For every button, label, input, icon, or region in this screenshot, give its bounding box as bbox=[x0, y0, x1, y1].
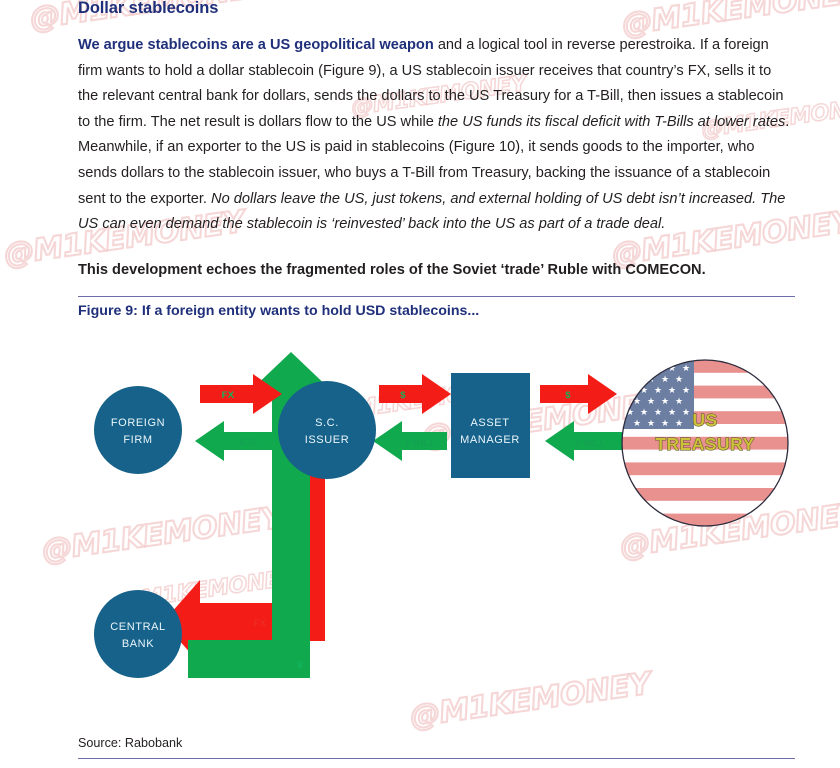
arrow-label-tbill-left: T-BILL bbox=[404, 438, 435, 449]
figure-9-diagram: FX $ FX S.C. $ T-BILL $ T-BILL FOREIGN bbox=[0, 330, 840, 730]
svg-text:★: ★ bbox=[647, 397, 655, 407]
paragraph-secondary: This development echoes the fragmented r… bbox=[78, 258, 795, 284]
node-sc-issuer-line1: S.C. bbox=[315, 417, 339, 429]
svg-text:★: ★ bbox=[668, 386, 676, 396]
svg-text:★: ★ bbox=[661, 419, 669, 429]
page-title: Dollar stablecoins bbox=[78, 0, 218, 18]
node-foreign-firm-line2: FIRM bbox=[123, 434, 152, 446]
node-asset-manager-line2: MANAGER bbox=[460, 434, 520, 446]
svg-text:★: ★ bbox=[661, 375, 669, 385]
svg-text:★: ★ bbox=[682, 386, 690, 396]
divider-bottom bbox=[78, 758, 795, 759]
svg-text:★: ★ bbox=[633, 375, 641, 385]
arrow-label-dollar-right: $ bbox=[565, 390, 571, 401]
svg-text:★: ★ bbox=[675, 397, 683, 407]
arrow-treasury-to-assetmgr: T-BILL bbox=[545, 421, 622, 461]
svg-text:★: ★ bbox=[675, 375, 683, 385]
node-us-treasury: ★★★★★ ★★★★ ★★★★★ ★★★★ ★★★★★ ★★★★ US TREA… bbox=[622, 360, 788, 526]
paragraph-lead-bold: We argue stablecoins are a US geopolitic… bbox=[78, 37, 434, 53]
svg-text:★: ★ bbox=[640, 364, 648, 374]
node-sc-issuer: S.C. ISSUER bbox=[278, 381, 376, 479]
svg-text:★: ★ bbox=[682, 408, 690, 418]
arrow-label-sc: S.C. bbox=[239, 437, 259, 448]
svg-text:★: ★ bbox=[633, 419, 641, 429]
node-sc-issuer-line2: ISSUER bbox=[305, 434, 350, 446]
arrow-label-fx-top: FX bbox=[222, 390, 235, 401]
node-asset-manager: ASSET MANAGER bbox=[451, 373, 530, 478]
svg-text:★: ★ bbox=[668, 408, 676, 418]
node-us-treasury-line1: US bbox=[692, 410, 717, 430]
node-central-bank-line1: CENTRAL bbox=[110, 621, 166, 633]
figure-caption: Figure 9: If a foreign entity wants to h… bbox=[78, 303, 479, 319]
svg-text:★: ★ bbox=[647, 419, 655, 429]
divider-top bbox=[78, 296, 795, 297]
svg-text:★: ★ bbox=[626, 364, 634, 374]
node-central-bank-line2: BANK bbox=[122, 638, 154, 650]
arrow-issuer-to-assetmgr: $ bbox=[379, 374, 451, 414]
arrow-label-fx-bottom: FX bbox=[254, 618, 267, 629]
arrow-label-dollar-bottom: $ bbox=[297, 660, 303, 671]
source-note: Source: Rabobank bbox=[78, 736, 182, 750]
node-foreign-firm-line1: FOREIGN bbox=[111, 417, 165, 429]
svg-text:★: ★ bbox=[626, 386, 634, 396]
svg-text:★: ★ bbox=[654, 386, 662, 396]
arrow-issuer-to-firm: S.C. bbox=[195, 421, 277, 461]
arrow-assetmgr-to-issuer: T-BILL bbox=[373, 421, 447, 461]
arrow-label-tbill-right: T-BILL bbox=[574, 438, 605, 449]
node-foreign-firm: FOREIGN FIRM bbox=[94, 386, 182, 474]
svg-text:★: ★ bbox=[675, 419, 683, 429]
svg-text:★: ★ bbox=[682, 364, 690, 374]
paragraph-italic-1: the US funds its fiscal deficit with T-B… bbox=[438, 114, 785, 130]
svg-text:★: ★ bbox=[661, 397, 669, 407]
svg-text:★: ★ bbox=[640, 408, 648, 418]
node-central-bank: CENTRAL BANK bbox=[94, 590, 182, 678]
paragraph-primary: We argue stablecoins are a US geopolitic… bbox=[78, 33, 795, 238]
arrow-assetmgr-to-treasury: $ bbox=[540, 374, 617, 414]
node-us-treasury-line2: TREASURY bbox=[655, 434, 755, 454]
arrow-label-dollar-left: $ bbox=[400, 390, 406, 401]
node-asset-manager-line1: ASSET bbox=[470, 417, 509, 429]
svg-text:★: ★ bbox=[654, 408, 662, 418]
